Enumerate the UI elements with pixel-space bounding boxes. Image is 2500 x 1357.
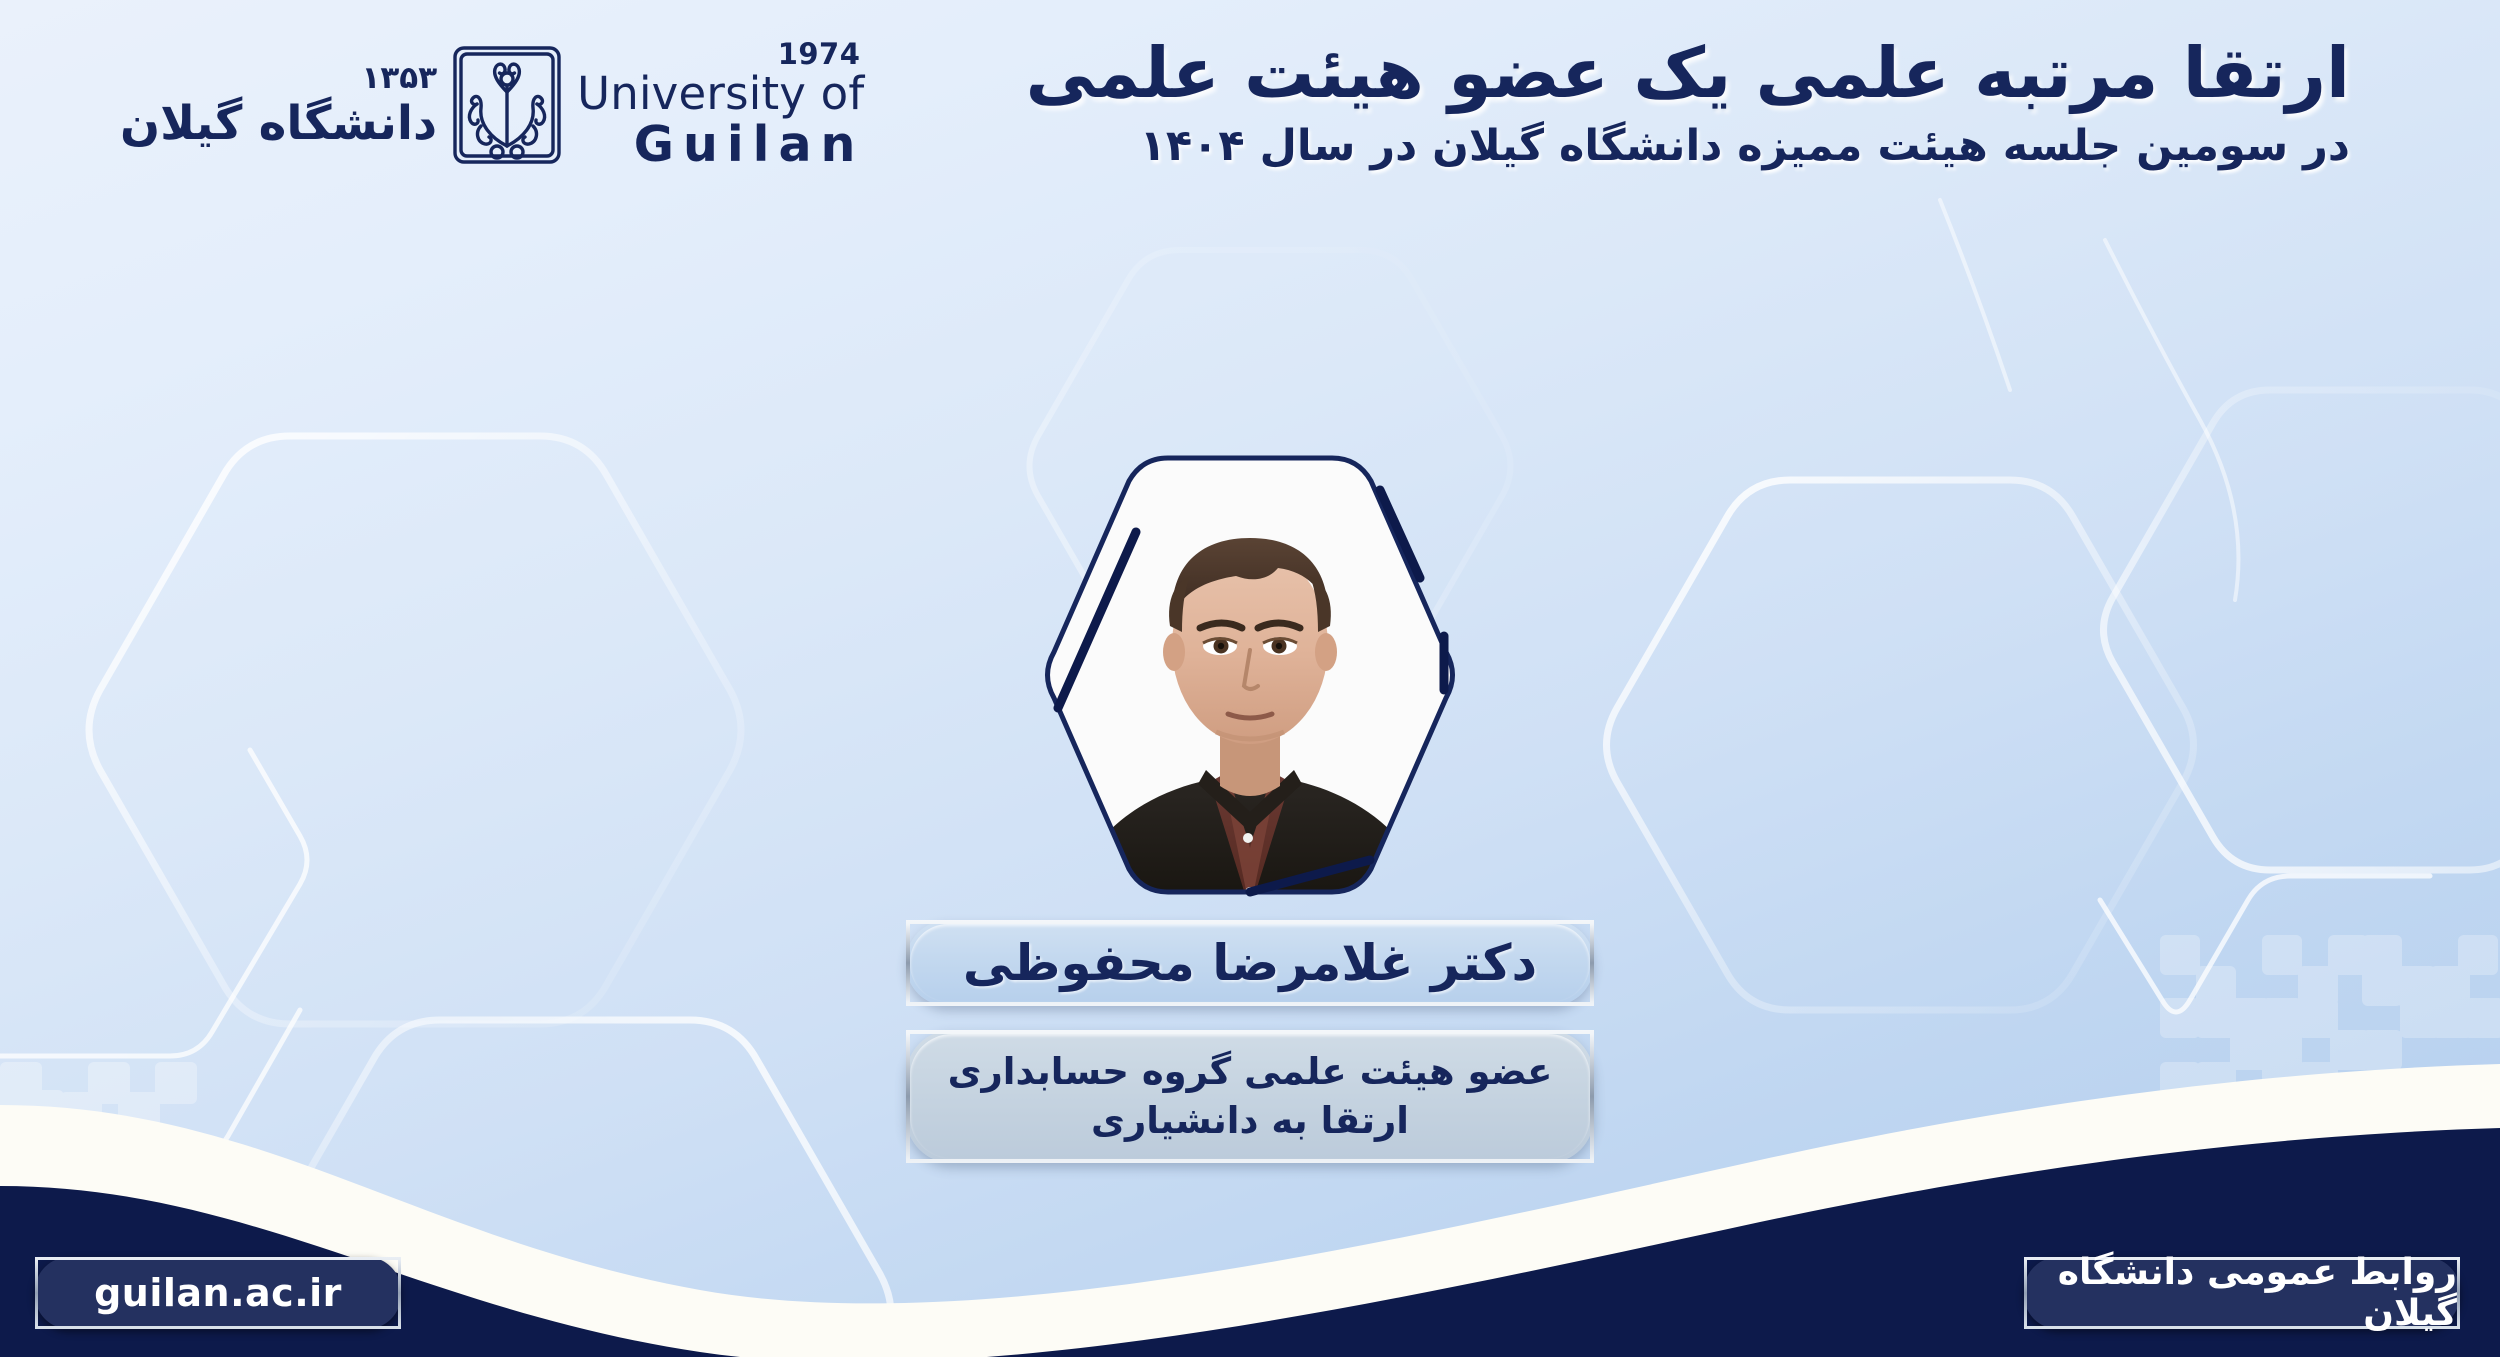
logo-university-name-fa: دانشگاه گیلان [120, 100, 437, 147]
guilan-university-emblem-icon [447, 42, 567, 167]
logo-university-word: University of [577, 71, 864, 116]
person-name: دکتر غلامرضا محفوظی [963, 934, 1537, 992]
poster-canvas: 1974 University of Guilan [0, 0, 2500, 1357]
logo-guilan-word: Guilan [634, 120, 865, 169]
website-pill[interactable]: guilan.ac.ir [35, 1257, 401, 1329]
portrait-frame [1040, 440, 1460, 910]
page-title: ارتقا مرتبه علمی یک عضو هیئت علمی [1026, 34, 2350, 112]
logo-english-text: 1974 University of Guilan [577, 40, 864, 169]
header-titles: ارتقا مرتبه علمی یک عضو هیئت علمی در سوم… [1026, 34, 2350, 172]
portrait-photo [1040, 440, 1460, 910]
public-relations-label: روابط عمومی دانشگاه گیلان [2027, 1252, 2457, 1334]
person-role-line-2: ارتقا به دانشیاری [1091, 1098, 1409, 1144]
logo-founding-year-en: 1974 [778, 40, 861, 69]
person-role-line-1: عضو هیئت علمی گروه حسابداری [948, 1049, 1553, 1095]
person-name-badge: دکتر غلامرضا محفوظی [906, 920, 1594, 1006]
website-url: guilan.ac.ir [94, 1271, 342, 1315]
poster-header: 1974 University of Guilan [0, 0, 2500, 240]
university-logo: 1974 University of Guilan [110, 40, 878, 169]
person-role-badge: عضو هیئت علمی گروه حسابداری ارتقا به دان… [906, 1030, 1594, 1163]
logo-persian-text: ۱۳۵۳ دانشگاه گیلان [120, 63, 437, 147]
public-relations-pill: روابط عمومی دانشگاه گیلان [2024, 1257, 2460, 1329]
page-subtitle: در سومین جلسه هیئت ممیزه دانشگاه گیلان د… [1026, 122, 2350, 171]
logo-founding-year-fa: ۱۳۵۳ [361, 63, 437, 94]
